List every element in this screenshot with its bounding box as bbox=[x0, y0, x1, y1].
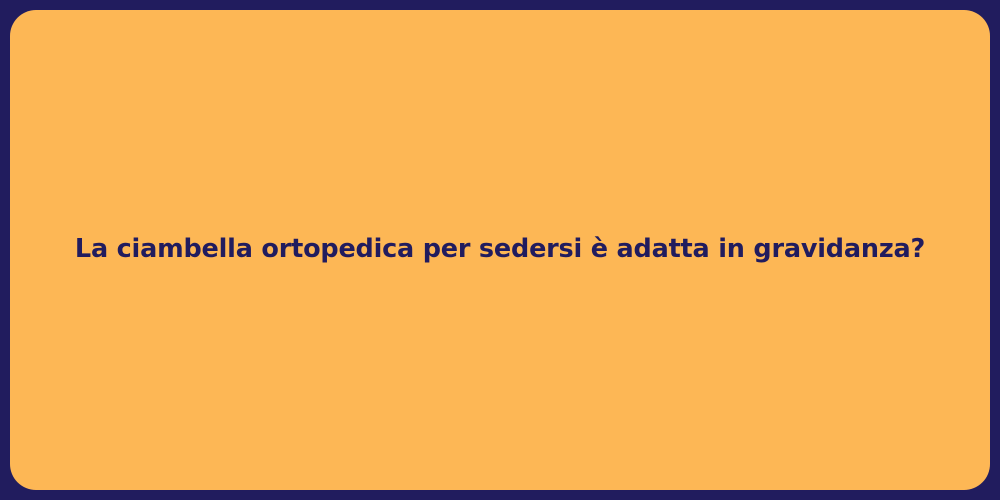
banner-heading-text: La ciambella ortopedica per sedersi è ad… bbox=[45, 234, 955, 266]
banner-background: La ciambella ortopedica per sedersi è ad… bbox=[0, 0, 1000, 500]
banner-card: La ciambella ortopedica per sedersi è ad… bbox=[10, 10, 990, 490]
